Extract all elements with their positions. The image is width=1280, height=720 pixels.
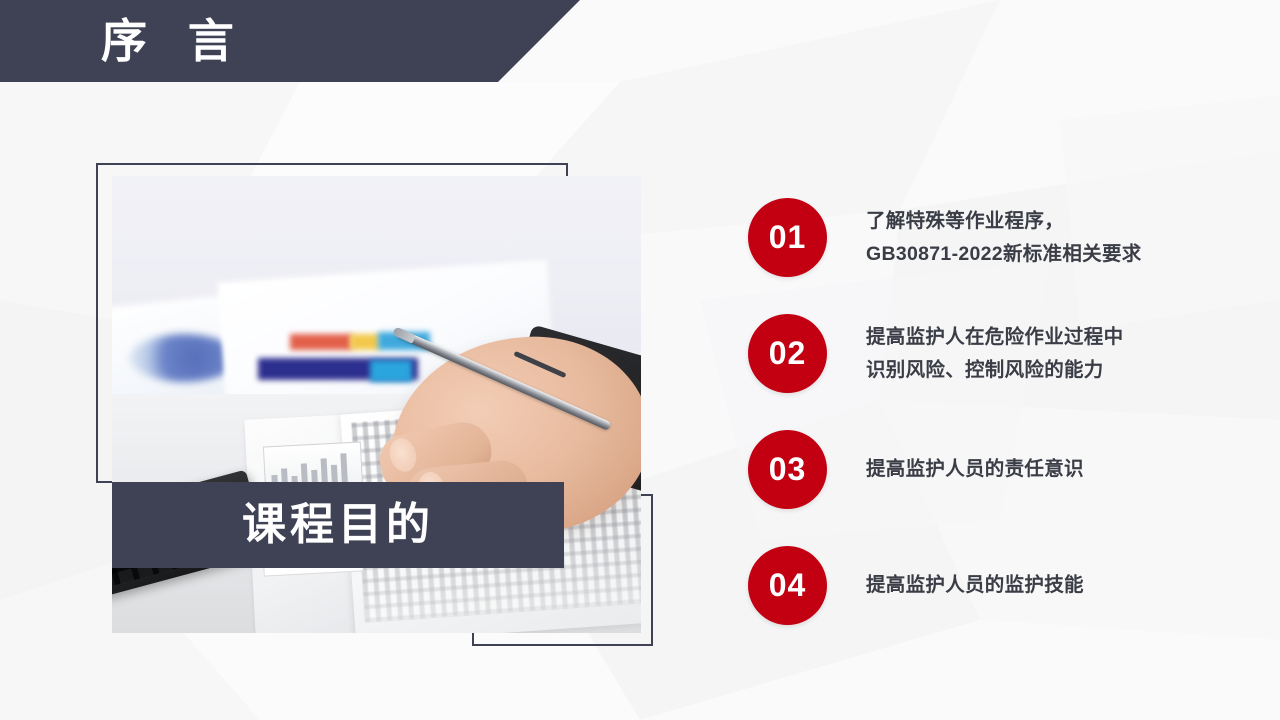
bullet-number-badge: 02: [748, 314, 827, 393]
header-banner: [0, 0, 580, 82]
bullet-text: 了解特殊等作业程序， GB30871-2022新标准相关要求: [866, 205, 1142, 271]
list-item[interactable]: 02 提高监护人在危险作业过程中 识别风险、控制风险的能力: [748, 314, 1248, 393]
caption-box: 课程目的: [112, 482, 564, 568]
bullet-number-badge: 04: [748, 546, 827, 625]
bullet-number-badge: 01: [748, 198, 827, 277]
list-item[interactable]: 04 提高监护人员的监护技能: [748, 546, 1248, 625]
bullet-text: 提高监护人在危险作业过程中 识别风险、控制风险的能力: [866, 321, 1123, 387]
caption-label: 课程目的: [242, 503, 434, 547]
page-title: 序 言: [101, 8, 248, 74]
bullet-text: 提高监护人员的监护技能: [866, 569, 1084, 602]
list-item[interactable]: 01 了解特殊等作业程序， GB30871-2022新标准相关要求: [748, 198, 1248, 277]
bullet-text: 提高监护人员的责任意识: [866, 453, 1084, 486]
list-item[interactable]: 03 提高监护人员的责任意识: [748, 430, 1248, 509]
slide-canvas: 序 言: [0, 0, 1280, 720]
bullet-number-badge: 03: [748, 430, 827, 509]
